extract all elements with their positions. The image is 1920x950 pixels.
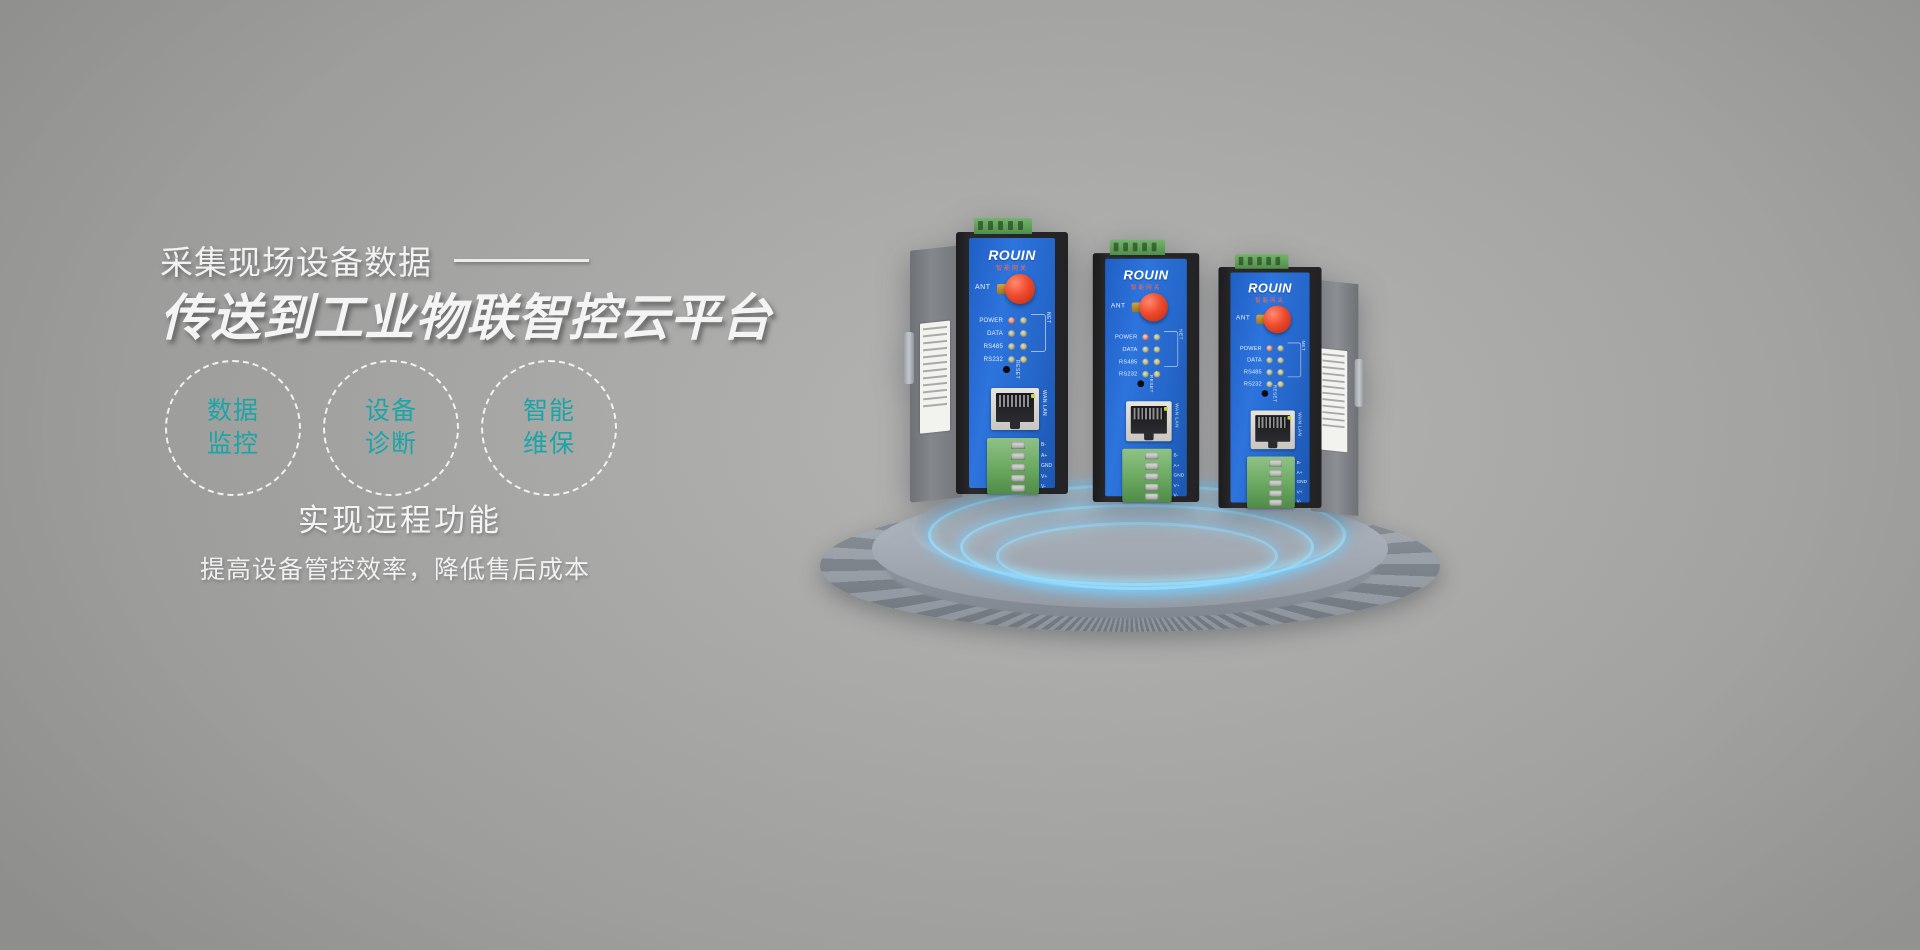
feature-circle-device-diagnosis[interactable]: 设备 诊断 <box>323 360 459 496</box>
led-indicator-icon <box>1277 345 1283 351</box>
led-indicator-icon <box>1008 317 1015 324</box>
terminal-pin-label: V- <box>1297 497 1307 507</box>
led-indicator-icon <box>1266 369 1272 375</box>
rj45-tab-icon <box>1010 421 1020 429</box>
terminal-pin-labels: B- A+ GND V+ V- <box>1041 440 1052 493</box>
led-indicator-icon <box>1020 356 1027 363</box>
led-label: RS232 <box>1236 382 1262 388</box>
led-label: RS232 <box>975 357 1003 363</box>
led-indicator-icon <box>1142 346 1149 353</box>
feature-label-line1: 设备 <box>365 395 417 428</box>
rj45-ethernet-port[interactable] <box>1126 401 1172 441</box>
rj45-link-led-icon <box>1031 394 1035 398</box>
led-indicator-icon <box>1154 346 1161 353</box>
terminal-pin-label: V+ <box>1297 487 1307 497</box>
device-body: ROUIN 智能网关 ANT POWER DATA <box>1218 267 1321 508</box>
gateway-device-right: ROUIN 智能网关 ANT POWER DATA <box>1218 267 1321 508</box>
glow-ring-inner <box>996 522 1278 590</box>
feature-label-line1: 数据 <box>207 395 259 428</box>
led-indicator-icon <box>1277 369 1283 375</box>
device-front-panel: ROUIN 智能网关 ANT POWER DATA <box>1105 259 1187 497</box>
rj45-pins-icon <box>1134 408 1164 419</box>
reset-label: RESET <box>1272 385 1278 403</box>
terminal-pin-label: V+ <box>1174 481 1185 491</box>
net-bracket-icon <box>1287 342 1301 377</box>
device-spec-label <box>920 321 950 434</box>
supporting-text: 提高设备管控效率，降低售后成本 <box>150 550 640 586</box>
antenna-label: ANT <box>1236 315 1250 321</box>
kicker-text: 采集现场设备数据 <box>160 236 432 284</box>
bottom-terminal-block <box>1247 456 1295 508</box>
reset-label: RESET <box>1014 360 1020 379</box>
reset-button[interactable] <box>1137 380 1144 387</box>
reset-button[interactable] <box>1003 366 1010 373</box>
terminal-pin-label: V- <box>1174 491 1185 501</box>
kicker-row: 采集现场设备数据 <box>160 238 840 282</box>
antenna-connector-icon[interactable] <box>1264 306 1292 334</box>
brand-subtitle: 智能网关 <box>1230 295 1309 303</box>
led-label: POWER <box>1236 346 1262 352</box>
net-label: NET <box>1045 312 1051 324</box>
rj45-pins-icon <box>999 395 1031 407</box>
feature-circle-data-monitoring[interactable]: 数据 监控 <box>165 360 301 496</box>
terminal-pin-label: GND <box>1041 461 1052 472</box>
led-label: RS485 <box>1111 359 1138 365</box>
rj45-ethernet-port[interactable] <box>991 388 1039 430</box>
led-indicator-icon <box>1020 330 1027 337</box>
feature-label-line2: 监控 <box>207 428 259 461</box>
feature-circle-smart-maintenance[interactable]: 智能 维保 <box>481 360 617 496</box>
feature-label-line2: 维保 <box>523 428 575 461</box>
kicker-rule <box>454 259 589 262</box>
rj45-link-led-icon <box>1287 416 1291 420</box>
led-indicator-icon <box>1142 359 1149 366</box>
antenna-label: ANT <box>1111 303 1126 310</box>
lan-label: WAN LAN <box>1297 412 1303 436</box>
terminal-pin-label: V- <box>1041 482 1052 493</box>
gateway-device-left: ROUIN 智能网关 ANT POWER DATA <box>956 232 1068 494</box>
led-row: RS232 <box>1111 368 1181 380</box>
top-terminal-block <box>1110 240 1165 255</box>
net-label: NET <box>1177 329 1183 340</box>
terminal-pin-labels: B- A+ GND V+ V- <box>1174 451 1185 501</box>
brand-subtitle: 智能网关 <box>1105 283 1187 292</box>
device-body: ROUIN 智能网关 ANT POWER DATA <box>956 232 1068 494</box>
led-label: RS232 <box>1111 371 1138 377</box>
led-indicator-icon <box>1142 334 1149 341</box>
top-terminal-block <box>1235 254 1288 269</box>
led-indicator-icon <box>1020 343 1027 350</box>
rj45-tab-icon <box>1268 441 1277 448</box>
product-scene: ROUIN 智能网关 ANT POWER DATA <box>790 180 1490 650</box>
led-label: RS485 <box>1236 370 1262 376</box>
led-indicator-icon <box>1266 345 1272 351</box>
led-label: DATA <box>1111 347 1138 353</box>
feature-label-line2: 诊断 <box>365 428 417 461</box>
subheading-text: 实现远程功能 <box>160 495 640 540</box>
brand-logo: ROUIN <box>1105 267 1187 282</box>
led-indicator-icon <box>1154 371 1161 378</box>
feature-circles: 数据 监控 设备 诊断 智能 维保 <box>165 360 617 496</box>
net-bracket-icon <box>1031 314 1046 352</box>
terminal-pin-label: V+ <box>1041 472 1052 483</box>
reset-button[interactable] <box>1262 390 1268 396</box>
device-body: ROUIN 智能网关 ANT POWER DATA <box>1093 253 1199 502</box>
led-label: DATA <box>1236 358 1262 364</box>
led-row: RS232 <box>1236 378 1304 390</box>
device-spec-label <box>1320 348 1348 452</box>
led-indicator-icon <box>1277 357 1283 363</box>
rj45-link-led-icon <box>1164 407 1168 411</box>
led-indicator-icon <box>1266 357 1272 363</box>
antenna-label: ANT <box>975 284 991 291</box>
lan-label: WAN LAN <box>1041 390 1047 416</box>
gateway-device-center: ROUIN 智能网关 ANT POWER DATA <box>1093 253 1199 502</box>
bottom-terminal-block <box>987 438 1039 494</box>
brand-subtitle: 智能网关 <box>969 263 1055 272</box>
terminal-pin-label: GND <box>1174 471 1185 481</box>
antenna-connector-icon[interactable] <box>1005 274 1035 304</box>
led-label: RS485 <box>975 344 1003 350</box>
device-side-panel <box>910 245 962 502</box>
rj45-ethernet-port[interactable] <box>1251 410 1295 449</box>
lan-label: WAN LAN <box>1174 403 1180 428</box>
copy-block: 采集现场设备数据 传送到工业物联智控云平台 <box>160 238 840 348</box>
terminal-pin-labels: B- A+ GND V+ V- <box>1297 458 1307 506</box>
led-indicator-icon <box>1154 334 1161 341</box>
din-rail-clip <box>904 332 914 384</box>
rj45-pins-icon <box>1258 417 1287 428</box>
promo-banner: 采集现场设备数据 传送到工业物联智控云平台 数据 监控 设备 诊断 智能 维保 … <box>0 0 1920 950</box>
reset-label: RESET <box>1148 375 1154 393</box>
brand-logo: ROUIN <box>1230 281 1309 296</box>
terminal-pin-label: GND <box>1297 478 1307 488</box>
led-label: POWER <box>975 318 1003 324</box>
brand-logo: ROUIN <box>969 247 1055 263</box>
led-indicator-icon <box>1277 381 1283 387</box>
bottom-terminal-block <box>1122 449 1171 502</box>
led-row: RS232 <box>975 353 1049 366</box>
terminal-pin-label: A+ <box>1041 451 1052 462</box>
top-terminal-block <box>974 218 1032 234</box>
rj45-tab-icon <box>1144 433 1154 441</box>
terminal-pin-label: A+ <box>1297 468 1307 478</box>
antenna-connector-icon[interactable] <box>1139 293 1168 322</box>
led-indicator-icon <box>1154 359 1161 366</box>
led-indicator-icon <box>1008 343 1015 350</box>
terminal-pin-label: B- <box>1041 440 1052 451</box>
net-label: NET <box>1300 341 1306 352</box>
din-rail-clip <box>1355 359 1364 407</box>
led-indicator-icon <box>1008 330 1015 337</box>
device-front-panel: ROUIN 智能网关 ANT POWER DATA <box>1230 272 1309 502</box>
terminal-pin-label: A+ <box>1174 461 1185 471</box>
led-indicator-icon <box>1020 317 1027 324</box>
feature-label-line1: 智能 <box>523 395 575 428</box>
led-label: DATA <box>975 331 1003 337</box>
terminal-pin-label: B- <box>1297 458 1307 468</box>
led-label: POWER <box>1111 334 1138 340</box>
device-front-panel: ROUIN 智能网关 ANT POWER DATA <box>969 238 1055 488</box>
terminal-pin-label: B- <box>1174 451 1185 461</box>
headline-text: 传送到工业物联智控云平台 <box>160 290 840 348</box>
net-bracket-icon <box>1164 331 1178 367</box>
